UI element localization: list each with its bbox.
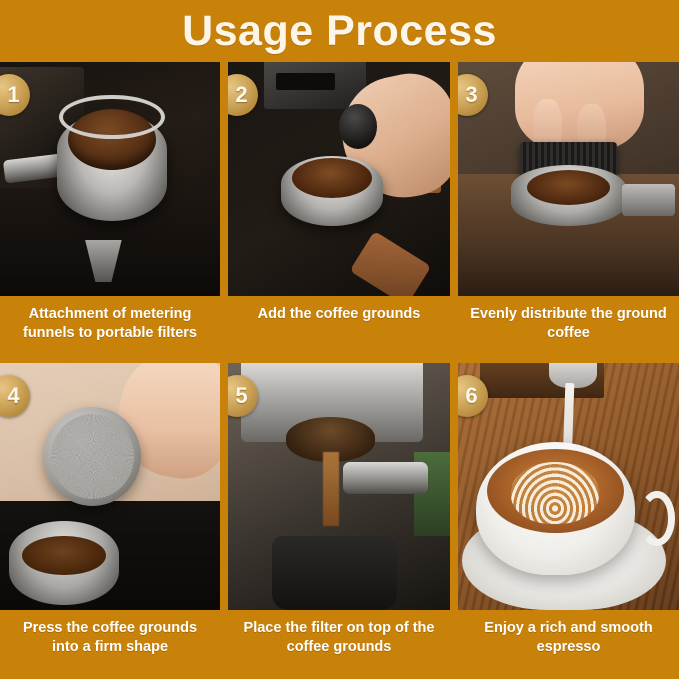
step-card-3: 3 Evenly distribute the ground coffee <box>458 62 679 358</box>
step-caption-5: Place the filter on top of the coffee gr… <box>228 610 450 656</box>
step-card-1: 1 Attachment of metering funnels to port… <box>0 62 220 358</box>
step-photo-3: 3 <box>458 62 679 296</box>
scene-finished-espresso <box>458 363 679 610</box>
steam-wand <box>343 462 427 494</box>
scene-pressing-grounds <box>0 363 220 610</box>
usage-process-infographic: Usage Process 1 <box>0 0 679 679</box>
step-caption-2: Add the coffee grounds <box>228 296 450 324</box>
steps-row-2: 4 Press the coffee grounds into a firm s… <box>0 363 679 679</box>
coffee-grounds <box>292 158 372 198</box>
step-caption-3: Evenly distribute the ground coffee <box>458 296 679 342</box>
page-title: Usage Process <box>182 10 497 53</box>
coffee-grounds <box>527 170 611 205</box>
step-card-2: 2 Add the coffee grounds <box>228 62 450 358</box>
funnel-knob <box>339 104 377 148</box>
step-caption-4: Press the coffee grounds into a firm sha… <box>0 610 220 656</box>
step-photo-6: 6 <box>458 363 679 610</box>
scene-portafilter-funnel <box>0 62 220 296</box>
step-number-5: 5 <box>228 385 248 407</box>
title-bar: Usage Process <box>0 0 679 62</box>
step-card-6: 6 Enjoy a rich and smooth espresso <box>458 363 679 679</box>
step-number-3: 3 <box>458 84 478 106</box>
portafilter-spout <box>622 184 675 217</box>
step-caption-6: Enjoy a rich and smooth espresso <box>458 610 679 656</box>
portafilter-wood-handle <box>349 230 430 296</box>
steps-row-1: 1 Attachment of metering funnels to port… <box>0 62 679 358</box>
step-number-2: 2 <box>228 84 248 106</box>
scene-espresso-extraction <box>228 363 450 610</box>
cup-handle <box>639 491 674 545</box>
coffee-grounds <box>22 536 106 576</box>
espresso-stream <box>323 452 339 526</box>
step-number-1: 1 <box>0 84 20 106</box>
step-number-6: 6 <box>458 385 478 407</box>
dosing-funnel-ring <box>59 95 165 139</box>
scene-adding-grounds <box>228 62 450 296</box>
step-photo-5: 5 <box>228 363 450 610</box>
metal-filter-disc <box>44 407 141 506</box>
step-photo-2: 2 <box>228 62 450 296</box>
step-number-4: 4 <box>0 385 20 407</box>
steps-grid: 1 Attachment of metering funnels to port… <box>0 62 679 679</box>
step-photo-4: 4 <box>0 363 220 610</box>
latte-art <box>511 462 599 524</box>
step-photo-1: 1 <box>0 62 220 296</box>
black-pitcher <box>272 536 396 610</box>
scene-distributing-grounds <box>458 62 679 296</box>
step-card-4: 4 Press the coffee grounds into a firm s… <box>0 363 220 679</box>
step-caption-1: Attachment of metering funnels to portab… <box>0 296 220 342</box>
step-card-5: 5 Place the filter on top of the coffee … <box>228 363 450 679</box>
